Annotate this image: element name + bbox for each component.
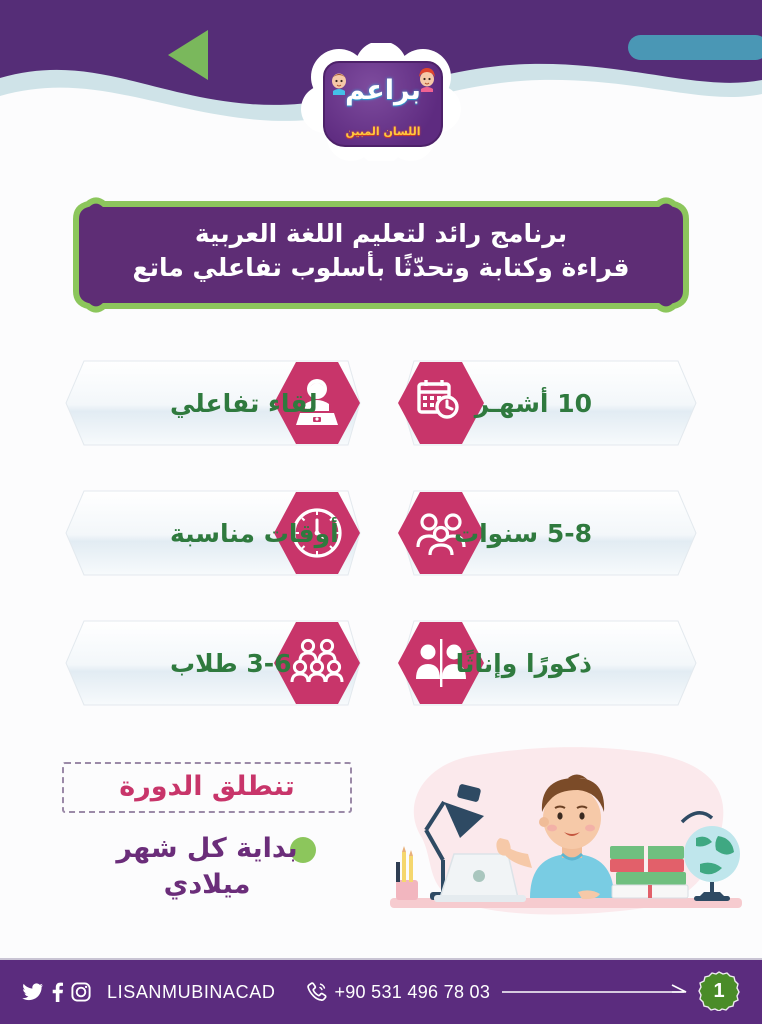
page-number: 1 — [698, 971, 740, 1011]
chip-label: 5-8 سنوات — [426, 485, 592, 581]
feature-chip-class-size[interactable]: 3-6 طلاب — [62, 615, 362, 711]
chip-label: 10 أشهـر — [426, 355, 592, 451]
launch-headline-box: تنطلق الدورة — [62, 762, 352, 813]
arrow-right-icon — [502, 984, 692, 1000]
facebook-icon[interactable] — [51, 982, 64, 1002]
chip-label: ذكورًا وإناثًا — [426, 615, 592, 711]
page-footer: LISANMUBINACAD +90 531 496 78 03 1 — [0, 958, 762, 1024]
banner-text-block: برنامج رائد لتعليم اللغة العربية قراءة و… — [92, 217, 670, 285]
launch-headline: تنطلق الدورة — [74, 773, 340, 800]
boy-studying-at-desk-illustration — [382, 742, 762, 938]
logo-sub-text: اللسان المبين — [325, 126, 441, 137]
logo-plaque: براعم اللسان المبين — [323, 61, 443, 147]
social-handle: LISANMUBINACAD — [107, 982, 275, 1003]
phone-group[interactable]: +90 531 496 78 03 — [305, 981, 490, 1003]
banner-line-2: قراءة وكتابة وتحدّثًا بأسلوب تفاعلي ماتع — [92, 251, 670, 285]
launch-subtext-line-2: ميلادي — [62, 867, 352, 903]
headline-banner: برنامج رائد لتعليم اللغة العربية قراءة و… — [62, 193, 700, 317]
chip-label: لقاء تفاعلي — [170, 355, 336, 451]
triangle-left-icon — [168, 30, 208, 80]
rounded-bar-decor — [628, 35, 762, 60]
feature-chip-duration[interactable]: 10 أشهـر — [400, 355, 700, 451]
feature-chip-suitable-times[interactable]: أوقات مناسبة — [62, 485, 362, 581]
logo-main-text: براعم — [325, 77, 441, 104]
feature-row: ذكورًا وإناثًا — [0, 615, 762, 745]
social-icons-group: LISANMUBINACAD — [22, 982, 275, 1003]
chip-label: أوقات مناسبة — [170, 485, 336, 581]
instagram-icon[interactable] — [71, 982, 91, 1002]
twitter-icon[interactable] — [22, 982, 44, 1002]
phone-call-icon — [305, 981, 327, 1003]
launch-subtext-block: بداية كل شهر ميلادي — [62, 831, 352, 904]
feature-chip-age-range[interactable]: 5-8 سنوات — [400, 485, 700, 581]
feature-chip-interactive-meeting[interactable]: لقاء تفاعلي — [62, 355, 362, 451]
phone-number: +90 531 496 78 03 — [334, 982, 490, 1003]
feature-row: 10 أشهـر لقاء تفا — [0, 355, 762, 485]
features-list: 10 أشهـر لقاء تفا — [0, 355, 762, 745]
launch-subtext-line-1: بداية كل شهر — [62, 831, 352, 867]
footer-content-row: LISANMUBINACAD +90 531 496 78 03 — [0, 960, 762, 1024]
feature-row: 5-8 سنوات — [0, 485, 762, 615]
brand-logo: براعم اللسان المبين — [299, 43, 463, 163]
chip-label: 3-6 طلاب — [170, 615, 336, 711]
feature-chip-gender[interactable]: ذكورًا وإناثًا — [400, 615, 700, 711]
banner-line-1: برنامج رائد لتعليم اللغة العربية — [92, 217, 670, 251]
course-launch-block: تنطلق الدورة بداية كل شهر ميلادي — [62, 762, 352, 904]
page-number-badge: 1 — [698, 971, 740, 1011]
